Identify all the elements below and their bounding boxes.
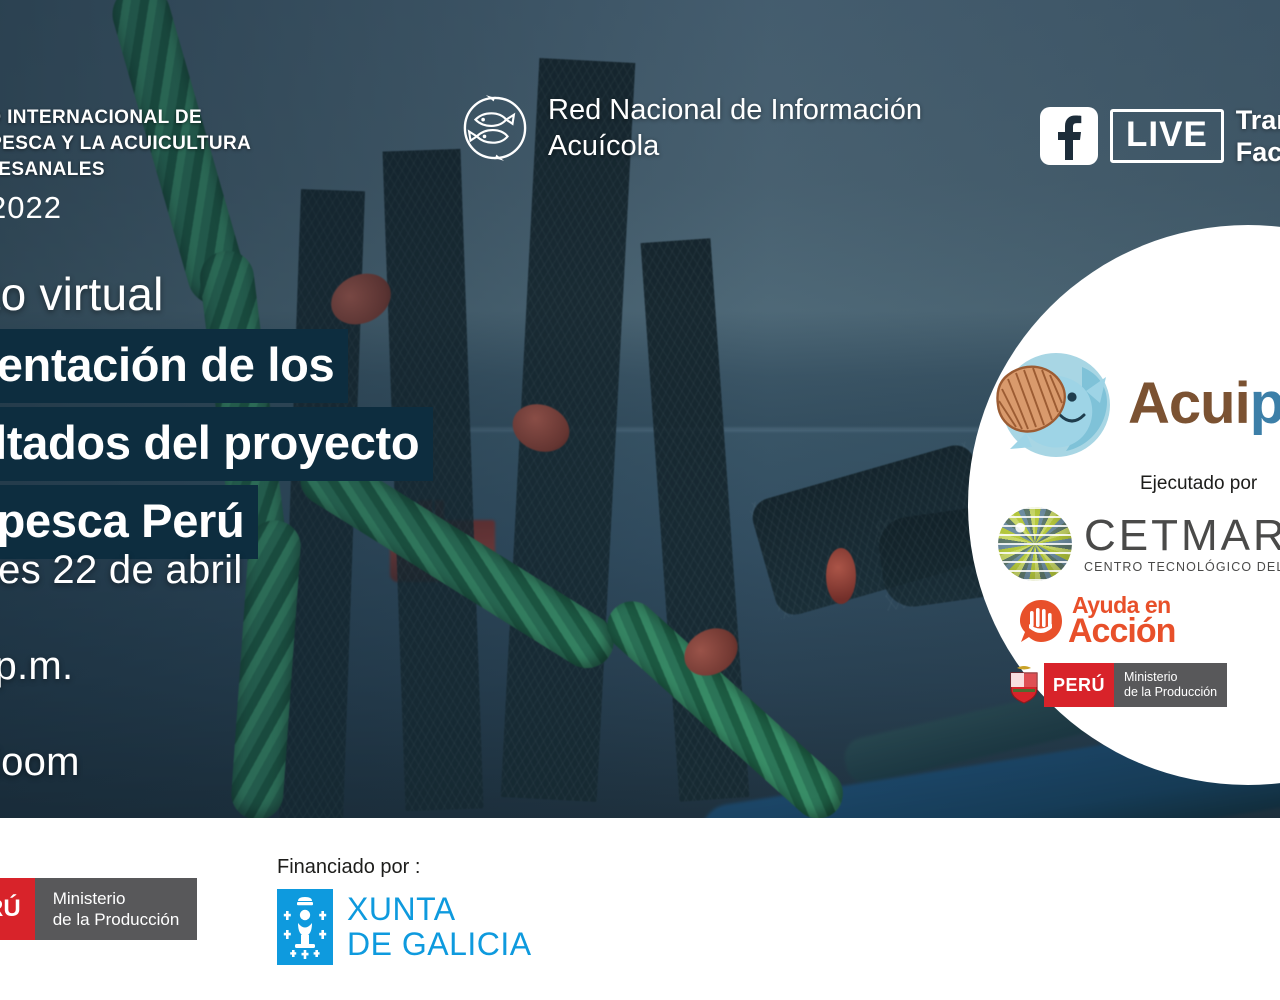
footer-ministry-line-2: de la Producción <box>53 909 180 930</box>
event-details: Viernes 22 de abril 4:00 p.m. Vía Zoom <box>0 545 524 833</box>
event-date: Viernes 22 de abril <box>0 545 524 595</box>
funded-by-label: Financiado por : <box>277 856 532 879</box>
headline-lines: Presentación de los resultados del proye… <box>0 329 582 559</box>
iyafa-line-2: LA PESCA Y LA ACUICULTURA <box>0 131 258 157</box>
event-poster: AÑO INTERNACIONAL DE LA PESCA Y LA ACUIC… <box>0 0 1280 1000</box>
peru-ministry-line-1: Ministerio <box>1124 670 1217 685</box>
broadcast-caption-line-1: Transmisión por <box>1236 104 1280 136</box>
xunta-de-galicia-logo: XUNTA DE GALICIA <box>277 889 532 965</box>
event-kicker: Evento virtual <box>0 265 582 323</box>
ayuda-en-accion-text: Ayuda en Acción <box>1068 595 1175 647</box>
broadcast-caption-line-2: Facebook <box>1236 136 1280 168</box>
peru-shield-icon <box>1004 663 1044 707</box>
sponsor-panel-content: Acuipesca Ejecutado por CETMAR CENTRO TE… <box>990 345 1280 707</box>
ayuda-en-accion-logo: Ayuda en Acción <box>1018 595 1280 647</box>
headline-line-2: resultados del proyecto <box>0 407 433 481</box>
footer-peru-label: PERÚ <box>0 878 35 940</box>
headline-line-1: Presentación de los <box>0 329 348 403</box>
acuipesca-word-part-2: pesca <box>1250 371 1280 436</box>
xunta-line-1: XUNTA <box>347 892 532 927</box>
rnia-lockup: Red Nacional de Información Acuícola <box>460 92 922 164</box>
acuipesca-word-part-1: Acui <box>1128 371 1250 436</box>
scallop-fish-icon <box>990 345 1120 463</box>
acuipesca-brand: Acuipesca <box>990 345 1280 463</box>
fish-circle-icon <box>460 93 530 163</box>
cetmar-text: CETMAR CENTRO TECNOLÓGICO DEL MAR <box>1084 514 1280 574</box>
galicia-coat-of-arms-icon <box>277 889 333 965</box>
facebook-icon[interactable] <box>1040 107 1098 165</box>
xunta-line-2: DE GALICIA <box>347 927 532 962</box>
event-time: 4:00 p.m. <box>0 641 524 691</box>
iyafa-year: 2022 <box>0 190 62 226</box>
iyafa-year-row: 2022 <box>0 190 258 226</box>
event-platform: Vía Zoom <box>0 737 524 787</box>
iyafa-lockup: AÑO INTERNACIONAL DE LA PESCA Y LA ACUIC… <box>0 105 258 226</box>
executed-by-label: Ejecutado por <box>1140 473 1280 495</box>
footer-ministry-label: Ministerio de la Producción <box>35 878 198 940</box>
fish-globe-icon <box>998 507 1072 581</box>
footer-ministry-line-1: Ministerio <box>53 888 180 909</box>
peru-ministry-label: Ministerio de la Producción <box>1114 663 1227 707</box>
cetmar-title: CETMAR <box>1084 514 1280 558</box>
iyafa-line-1: AÑO INTERNACIONAL DE <box>0 105 258 131</box>
poster-footer: PERÚ Ministerio de la Producción Financi… <box>0 818 1280 1000</box>
peru-ministry-line-2: de la Producción <box>1124 685 1217 700</box>
live-badge: LIVE <box>1110 109 1224 163</box>
headline-block: Evento virtual Presentación de los resul… <box>0 265 582 563</box>
cetmar-subtitle: CENTRO TECNOLÓGICO DEL MAR <box>1084 560 1280 574</box>
rnia-title-line-1: Red Nacional de Información <box>548 92 922 128</box>
rnia-title-line-2: Acuícola <box>548 128 922 164</box>
hand-icon <box>1018 598 1064 644</box>
broadcast-caption: Transmisión por Facebook <box>1236 104 1280 168</box>
facebook-live-lockup[interactable]: LIVE Transmisión por Facebook <box>1040 104 1280 168</box>
produce-logo: PERÚ Ministerio de la Producción <box>1004 663 1280 707</box>
ayuda-line-2: Acción <box>1068 616 1175 647</box>
live-label: LIVE <box>1126 115 1208 154</box>
peru-country-label: PERÚ <box>1044 663 1114 707</box>
iyafa-line-3: ARTESANALES <box>0 157 258 183</box>
xunta-wordmark: XUNTA DE GALICIA <box>347 892 532 962</box>
acuipesca-wordmark: Acuipesca <box>1128 373 1280 435</box>
cetmar-logo: CETMAR CENTRO TECNOLÓGICO DEL MAR <box>998 507 1280 581</box>
funded-by-block: Financiado por : <box>277 856 532 965</box>
footer-ministry-logo: PERÚ Ministerio de la Producción <box>0 878 197 940</box>
rnia-title: Red Nacional de Información Acuícola <box>548 92 922 164</box>
